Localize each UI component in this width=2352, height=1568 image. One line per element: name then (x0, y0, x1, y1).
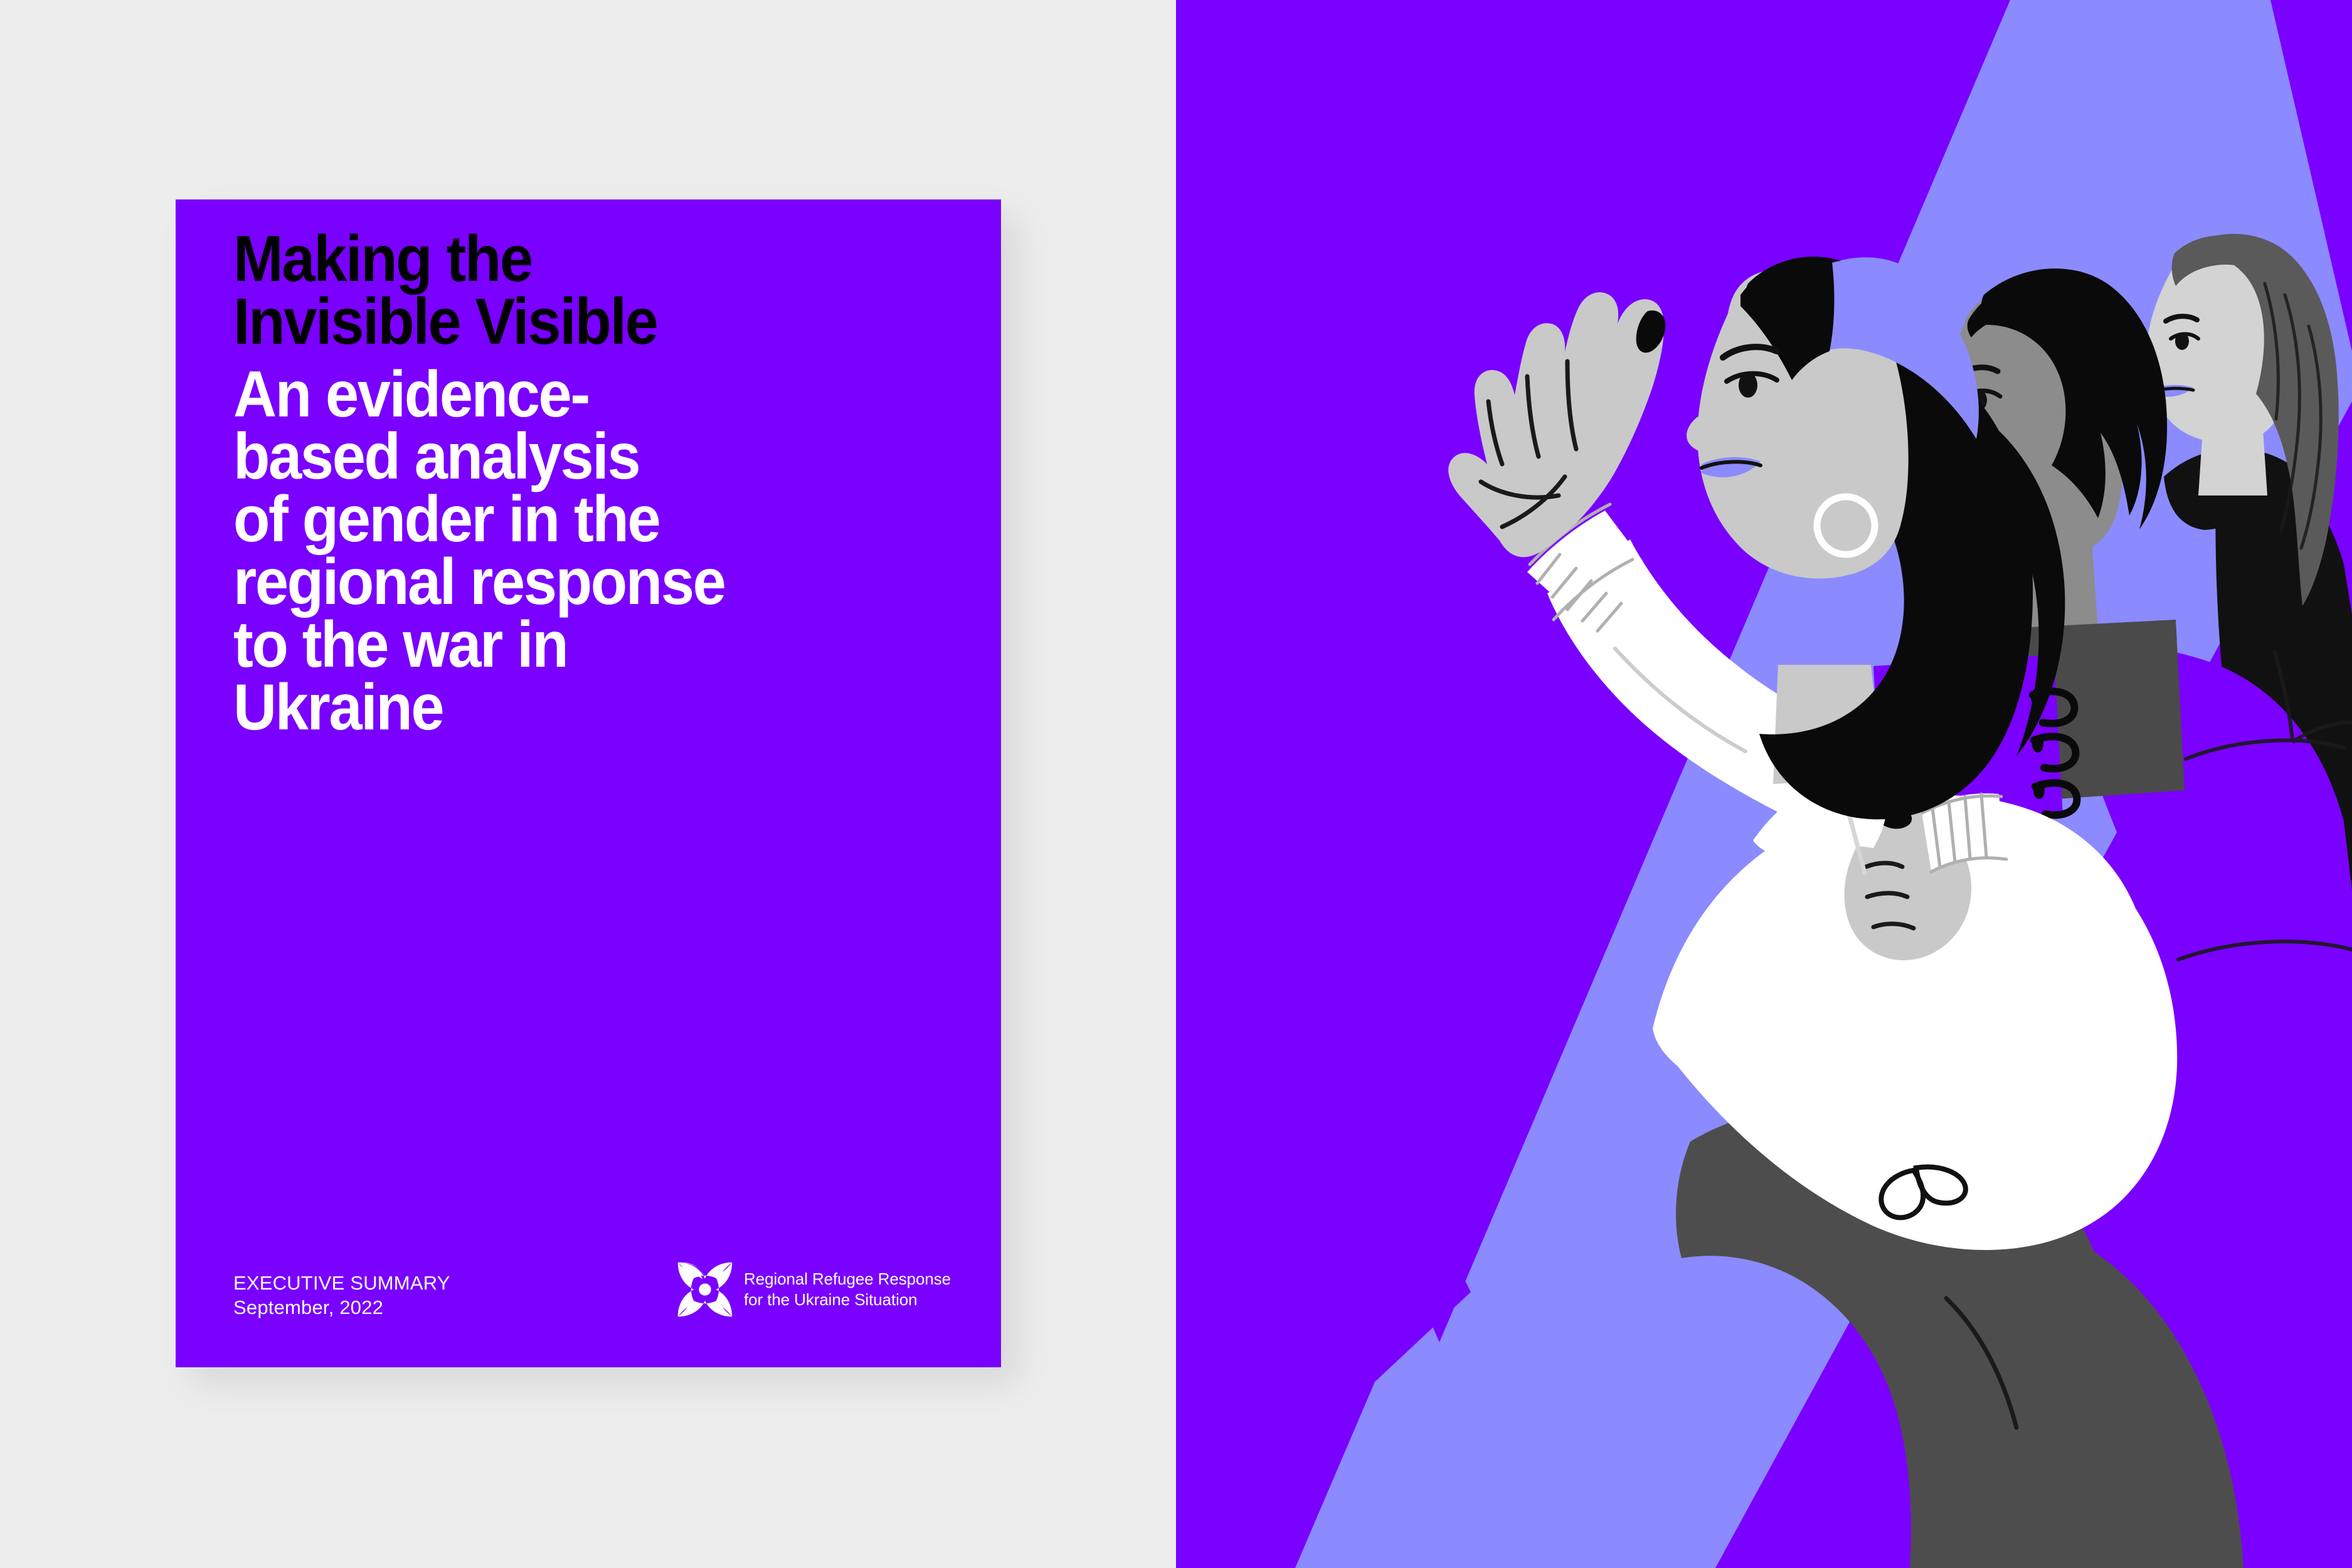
title-line-3: An evidence- (233, 364, 914, 426)
three-women-illustration (1176, 0, 2352, 1568)
brand-lockup: Regional Refugee Response for the Ukrain… (676, 1261, 951, 1318)
title-line-7: to the war in (233, 614, 914, 677)
document-type-label: EXECUTIVE SUMMARY (233, 1271, 450, 1295)
cover-backdrop: Making the Invisible Visible An evidence… (0, 0, 1176, 1568)
document-date-label: September, 2022 (233, 1295, 450, 1320)
title-line-5: of gender in the (233, 489, 914, 551)
brand-line-2: for the Ukraine Situation (744, 1290, 951, 1310)
document-meta: EXECUTIVE SUMMARY September, 2022 (233, 1271, 450, 1320)
title-line-6: regional response (233, 551, 914, 614)
cover-footer: EXECUTIVE SUMMARY September, 2022 (233, 1261, 951, 1320)
rrr-x-flower-logo-icon (676, 1261, 734, 1318)
title-line-1: Making the (233, 228, 914, 291)
brand-name: Regional Refugee Response for the Ukrain… (744, 1269, 951, 1311)
title-line-4: based analysis (233, 426, 914, 489)
cover-title-block: Making the Invisible Visible An evidence… (233, 228, 973, 739)
title-line-8: Ukraine (233, 677, 914, 739)
report-cover-composition: Making the Invisible Visible An evidence… (0, 0, 2352, 1568)
report-cover: Making the Invisible Visible An evidence… (176, 199, 1001, 1367)
cover-illustration-panel (1176, 0, 2352, 1568)
brand-line-1: Regional Refugee Response (744, 1269, 951, 1290)
title-line-2: Invisible Visible (233, 291, 914, 354)
